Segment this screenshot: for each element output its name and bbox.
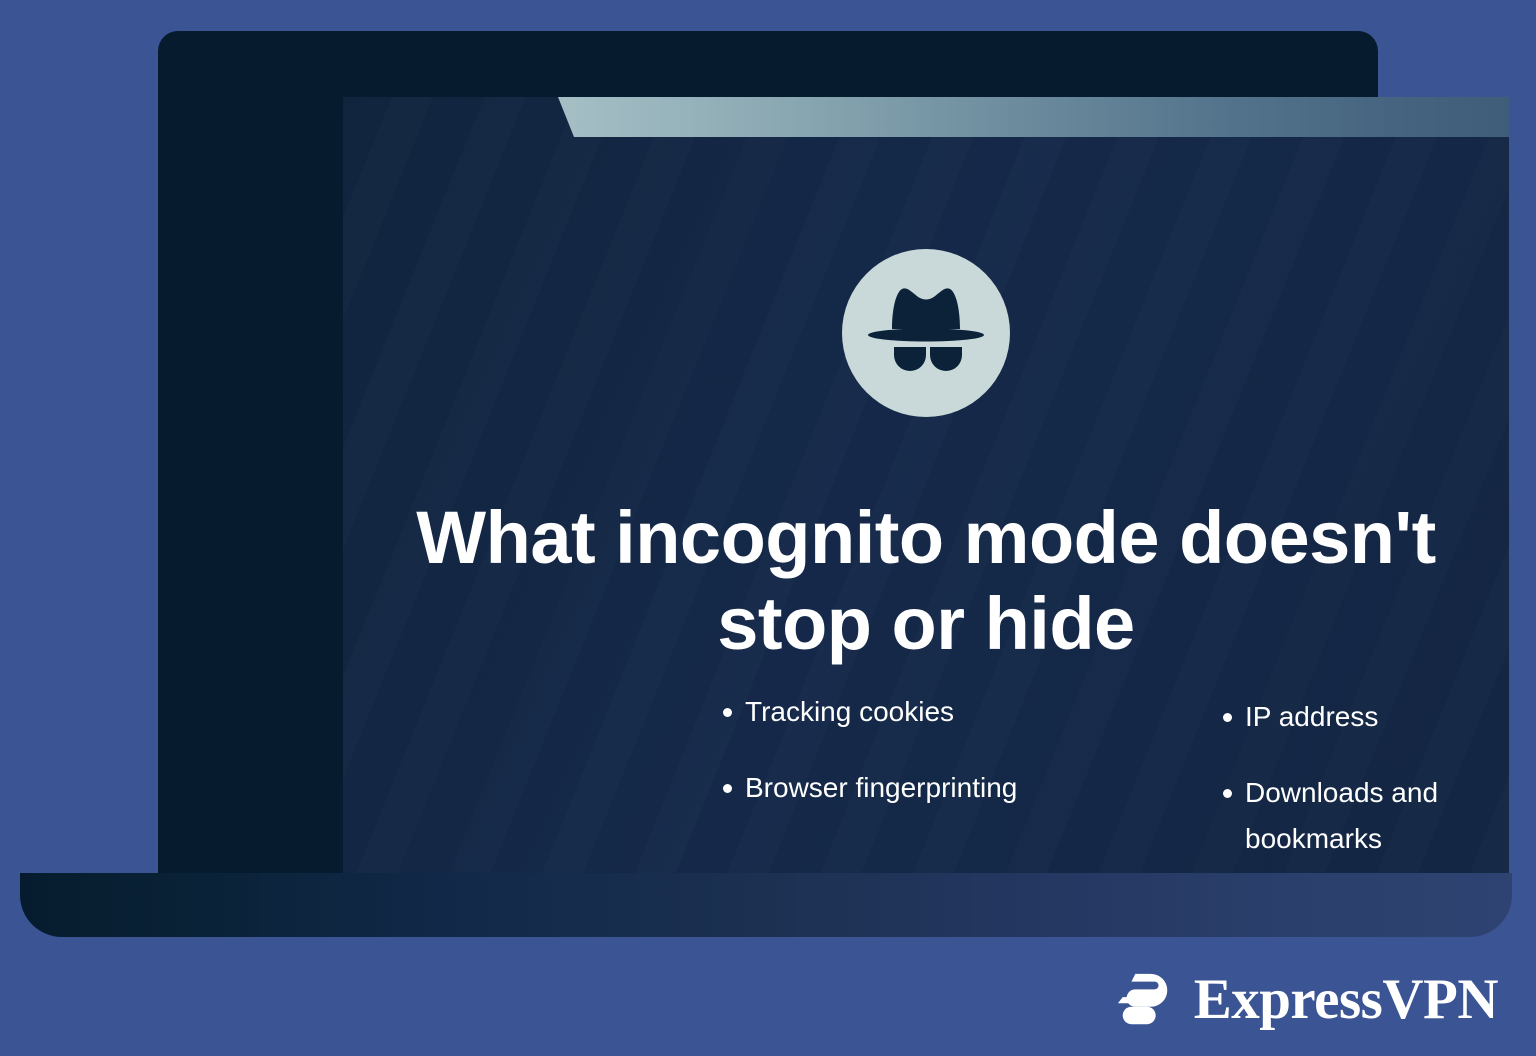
expressvpn-wordmark: ExpressVPN [1194, 971, 1498, 1028]
incognito-icon [840, 247, 1012, 419]
laptop-bezel: What incognito mode doesn't stop or hide… [158, 31, 1378, 873]
decorative-gradient-stripe [343, 97, 1509, 137]
expressvpn-logo: ExpressVPN [1114, 968, 1498, 1030]
list-item-label: Tracking cookies [745, 689, 1023, 735]
list-item: Browser fingerprinting [723, 765, 1023, 811]
laptop-screen: What incognito mode doesn't stop or hide… [343, 97, 1509, 877]
bullet-column-left: Tracking cookies Browser fingerprinting [723, 689, 1023, 877]
slide-canvas: What incognito mode doesn't stop or hide… [0, 0, 1536, 1056]
slide-title: What incognito mode doesn't stop or hide [386, 495, 1466, 667]
bullet-columns: Tracking cookies Browser fingerprinting … [528, 689, 1509, 877]
list-item: IP address [1223, 694, 1509, 740]
list-item-label: Browser fingerprinting [745, 765, 1023, 811]
bullet-column-right: IP address Downloads and bookmarks [1223, 694, 1509, 877]
list-item: Downloads and bookmarks [1223, 770, 1509, 862]
laptop-illustration: What incognito mode doesn't stop or hide… [0, 0, 1536, 940]
bullet-dot-icon [723, 784, 732, 793]
bullet-dot-icon [723, 708, 732, 717]
expressvpn-logo-mark-icon [1114, 968, 1176, 1030]
laptop-base [20, 873, 1512, 937]
list-item: Tracking cookies [723, 689, 1023, 735]
bullet-dot-icon [1223, 713, 1232, 722]
list-item-label: IP address [1245, 694, 1509, 740]
bullet-dot-icon [1223, 789, 1232, 798]
list-item-label: Downloads and bookmarks [1245, 770, 1509, 862]
